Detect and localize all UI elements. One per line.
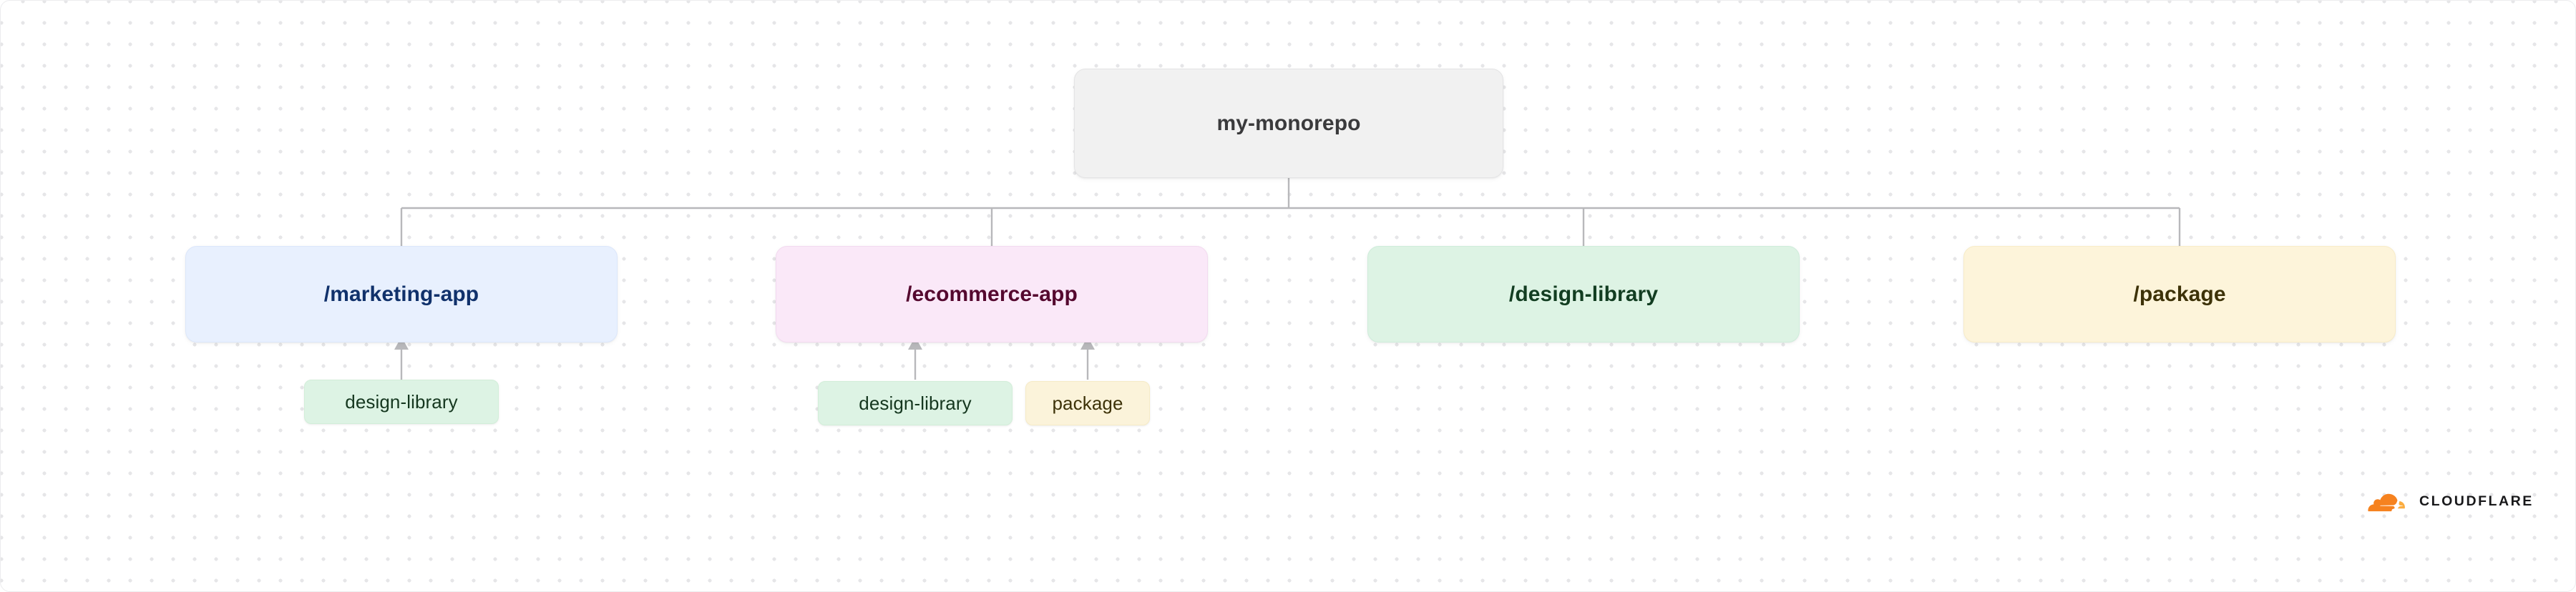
node-root-label: my-monorepo bbox=[1216, 112, 1360, 136]
node-design-library-label: /design-library bbox=[1509, 282, 1658, 307]
cloudflare-cloud-icon bbox=[2366, 490, 2410, 513]
node-root-my-monorepo[interactable]: my-monorepo bbox=[1074, 69, 1503, 178]
dependency-tag-label: design-library bbox=[345, 391, 457, 413]
node-package-label: /package bbox=[2133, 282, 2225, 307]
cloudflare-wordmark: CLOUDFLARE bbox=[2419, 495, 2534, 509]
node-ecommerce-app-label: /ecommerce-app bbox=[906, 282, 1078, 307]
dependency-tag-label: package bbox=[1053, 393, 1123, 415]
node-design-library[interactable]: /design-library bbox=[1367, 246, 1800, 342]
dependency-tag-marketing-design-library[interactable]: design-library bbox=[304, 380, 499, 424]
node-ecommerce-app[interactable]: /ecommerce-app bbox=[776, 246, 1208, 342]
dependency-tag-label: design-library bbox=[859, 393, 971, 415]
cloudflare-logo: CLOUDFLARE bbox=[2366, 490, 2534, 513]
node-package[interactable]: /package bbox=[1963, 246, 2396, 342]
node-marketing-app-label: /marketing-app bbox=[324, 282, 479, 307]
diagram-canvas: my-monorepo /marketing-app /ecommerce-ap… bbox=[0, 0, 2576, 592]
dependency-tag-ecommerce-design-library[interactable]: design-library bbox=[818, 381, 1013, 425]
node-marketing-app[interactable]: /marketing-app bbox=[185, 246, 618, 342]
dependency-tag-ecommerce-package[interactable]: package bbox=[1025, 381, 1150, 425]
